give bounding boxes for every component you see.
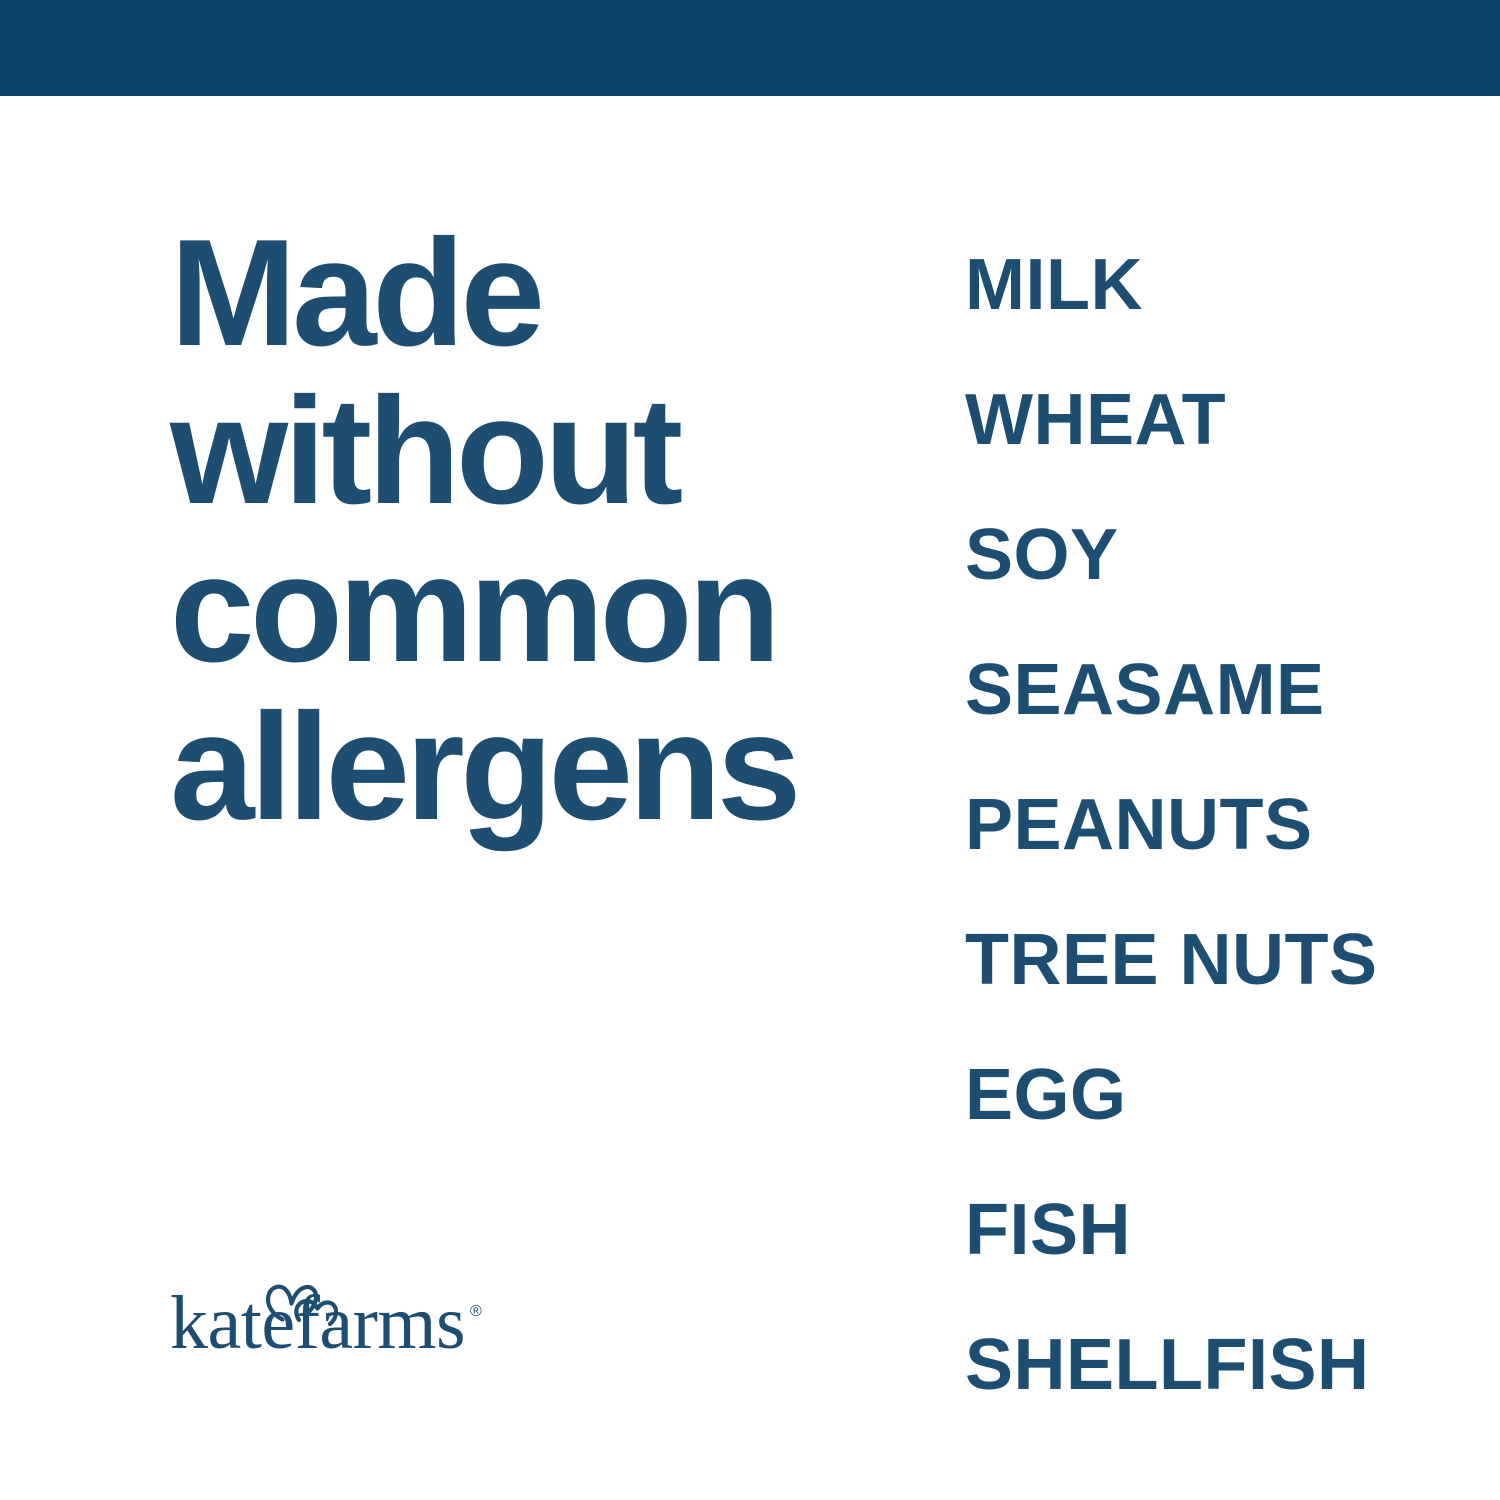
list-item: WHEAT [965,353,1465,488]
list-item: EGG [965,1028,1465,1163]
logo-wordmark: katefarms [170,1281,465,1365]
logo-text: katefarms [170,1366,171,1367]
list-item: FISH [965,1163,1465,1298]
allergen-info-graphic: Made without common allergens MILK WHEAT… [0,0,1500,1500]
headline-line-4: allergens [170,688,830,846]
top-banner [0,0,1500,96]
list-item: SHELLFISH [965,1298,1465,1433]
list-item: PEANUTS [965,758,1465,893]
list-item: MILK [965,218,1465,353]
headline-line-1: Made [170,214,830,372]
headline-line-2: without [170,372,830,530]
page-title: Made without common allergens [170,214,830,846]
list-item: SEASAME [965,623,1465,758]
registered-trademark-icon: ® [470,1303,482,1320]
logo-svg: katefarms ® [170,1266,510,1366]
katefarms-logo: katefarms ® katefarms [170,1266,510,1366]
allergen-list: MILK WHEAT SOY SEASAME PEANUTS TREE NUTS… [965,218,1465,1433]
headline-line-3: common [170,530,830,688]
list-item: SOY [965,488,1465,623]
list-item: TREE NUTS [965,893,1465,1028]
